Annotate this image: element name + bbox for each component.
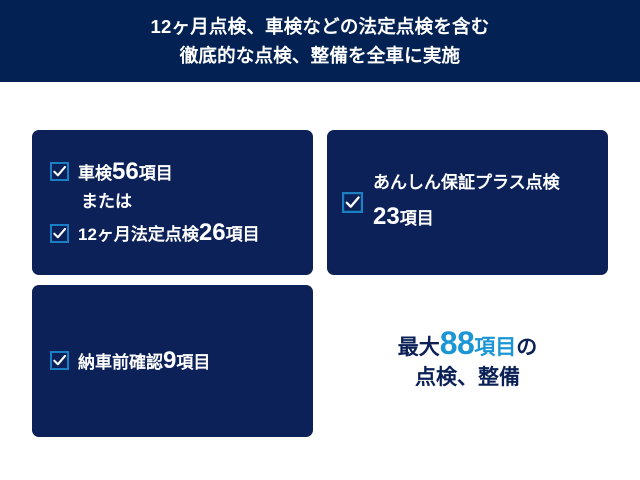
summary-number: 88 — [440, 325, 475, 361]
card-line-1: あんしん保証プラス点検 — [373, 173, 560, 193]
card-content: 納車前確認9項目 — [32, 285, 313, 437]
card-row: 車検56項目 — [50, 156, 313, 188]
card-row: 12ヶ月法定点検26項目 — [50, 217, 313, 249]
row-text-prefix: 納車前確認 — [78, 353, 163, 372]
row-text-suffix: 項目 — [226, 225, 260, 244]
card-text-lines: あんしん保証プラス点検 23項目 — [373, 173, 560, 231]
summary-line-2: 点検、整備 — [327, 364, 608, 392]
row-text-suffix: 項目 — [176, 353, 210, 372]
card-row-text-alt: または — [81, 191, 132, 214]
header-line-1: 12ヶ月点検、車検などの法定点検を含む — [151, 13, 490, 42]
row-text-prefix: 12ヶ月法定点検 — [78, 225, 199, 244]
anshin-warranty-card: あんしん保証プラス点検 23項目 — [327, 130, 608, 275]
header-banner: 12ヶ月点検、車検などの法定点検を含む 徹底的な点検、整備を全車に実施 — [0, 0, 640, 82]
card-row: または — [50, 189, 313, 216]
summary-unit: 項目 — [474, 336, 516, 359]
row-number: 23 — [373, 203, 400, 230]
row-number: 26 — [199, 219, 226, 246]
pre-delivery-check-card: 納車前確認9項目 — [32, 285, 313, 437]
card-row: あんしん保証プラス点検 23項目 — [342, 173, 608, 231]
row-number: 9 — [163, 347, 176, 374]
checkbox-checked-icon — [50, 162, 69, 181]
checkbox-checked-icon — [342, 192, 363, 213]
inspection-summary-page: 12ヶ月点検、車検などの法定点検を含む 徹底的な点検、整備を全車に実施 車検56… — [0, 0, 640, 480]
card-row-text: 車検56項目 — [78, 156, 173, 188]
card-line-2: 23項目 — [373, 203, 560, 232]
card-row: 納車前確認9項目 — [50, 345, 210, 377]
header-line-2: 徹底的な点検、整備を全車に実施 — [180, 42, 461, 71]
row-number: 56 — [112, 158, 139, 185]
row-text-suffix: 項目 — [139, 164, 173, 183]
summary-line-1: 最大88項目の — [327, 322, 608, 364]
row-text-suffix: 項目 — [400, 209, 434, 228]
card-row-text: 納車前確認9項目 — [78, 345, 210, 377]
total-items-summary: 最大88項目の 点検、整備 — [327, 322, 608, 392]
summary-suffix: の — [516, 336, 537, 359]
row-text-prefix: 車検 — [78, 164, 112, 183]
card-content: 車検56項目 または 12ヶ月法定点検26項目 — [32, 130, 313, 275]
card-rows: 車検56項目 または 12ヶ月法定点検26項目 — [32, 155, 313, 251]
summary-prefix: 最大 — [398, 336, 440, 359]
checkbox-checked-icon — [50, 224, 69, 243]
shaken-inspection-card: 車検56項目 または 12ヶ月法定点検26項目 — [32, 130, 313, 275]
checkbox-checked-icon — [50, 351, 69, 370]
card-row-text: 12ヶ月法定点検26項目 — [78, 217, 260, 249]
card-content: あんしん保証プラス点検 23項目 — [327, 130, 608, 275]
